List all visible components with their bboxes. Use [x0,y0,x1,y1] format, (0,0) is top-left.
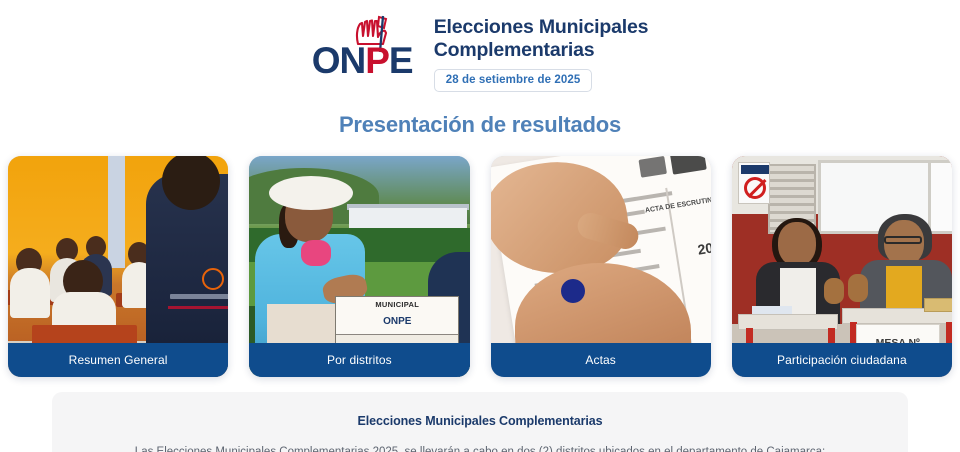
logo-text-on: ON [312,40,366,81]
card-por-distritos[interactable]: MUNICIPAL ONPE Por distritos [249,156,469,377]
page-title: Presentación de resultados [0,112,960,138]
card-label: Actas [491,343,711,377]
onpe-wordmark: ONPE [312,42,413,79]
logo-text-e: E [389,40,413,81]
card-label: Participación ciudadana [732,343,952,377]
info-panel: Elecciones Municipales Complementarias L… [52,392,908,452]
card-label: Por distritos [249,343,469,377]
header-title-block: Elecciones Municipales Complementarias 2… [434,14,649,92]
acta-title-text: ACTA DE ESCRUTINIO [644,196,711,215]
card-participacion-ciudadana[interactable]: MESA Nº Participación ciudadana [732,156,952,377]
logo-text-p: P [365,40,389,81]
card-label: Resumen General [8,343,228,377]
ballot-box-line-1: MUNICIPAL [336,300,458,309]
page-header: ONPE Elecciones Municipales Complementar… [0,0,960,92]
info-panel-paragraph: Las Elecciones Municipales Complementari… [92,444,868,452]
header-title-line-1: Elecciones Municipales [434,16,649,39]
card-actas[interactable]: ACTA DE ESCRUTINIO 20 Actas [491,156,711,377]
results-card-grid: Resumen General MUNICIPAL ONPE Por distr… [0,156,960,377]
onpe-logo[interactable]: ONPE [312,14,420,76]
no-smoking-sign [738,162,770,204]
info-panel-title: Elecciones Municipales Complementarias [92,414,868,428]
card-resumen-general[interactable]: Resumen General [8,156,228,377]
ballot-box-line-2: ONPE [336,316,458,327]
header-title-line-2: Complementarias [434,39,649,62]
acta-number-text: 20 [696,239,711,257]
election-date-badge: 28 de setiembre de 2025 [434,69,593,92]
